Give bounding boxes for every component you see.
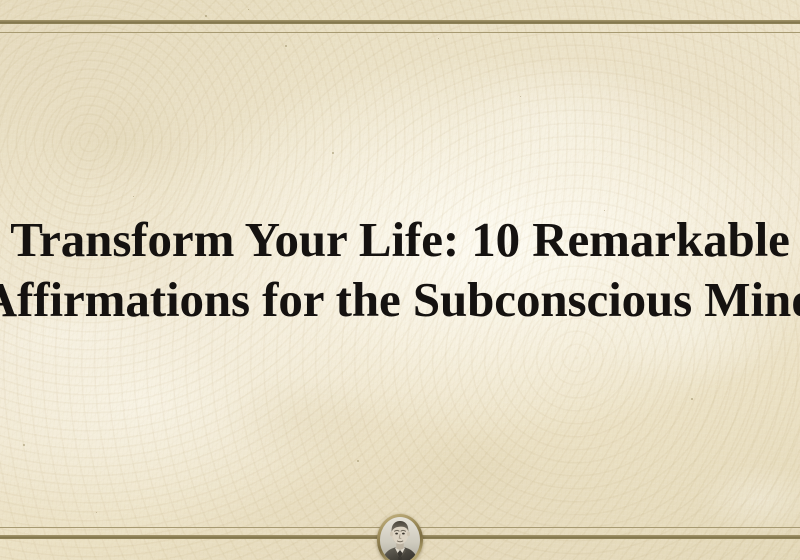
paper-speck [438, 38, 439, 39]
medallion-portrait-frame [380, 517, 420, 560]
paper-speck [357, 460, 359, 462]
title-line-1: Transform Your Life: 10 Remarkable [0, 210, 800, 270]
paper-speck [248, 9, 249, 10]
paper-speck [285, 45, 287, 47]
top-thick-rule [0, 20, 800, 24]
paper-speck [332, 152, 334, 154]
paper-speck [520, 96, 521, 97]
paper-speck [96, 512, 97, 513]
paper-speck [691, 398, 693, 400]
top-thin-rule [0, 32, 800, 33]
portrait-photo-icon [380, 517, 420, 560]
cover-page: Transform Your Life: 10 Remarkable Affir… [0, 0, 800, 560]
paper-speck [23, 444, 25, 446]
author-portrait-medallion [377, 514, 423, 560]
title-line-2: Affirmations for the Subconscious Mind [0, 270, 800, 330]
paper-speck [205, 15, 207, 17]
cover-title: Transform Your Life: 10 Remarkable Affir… [0, 210, 800, 330]
paper-speck [133, 196, 134, 197]
